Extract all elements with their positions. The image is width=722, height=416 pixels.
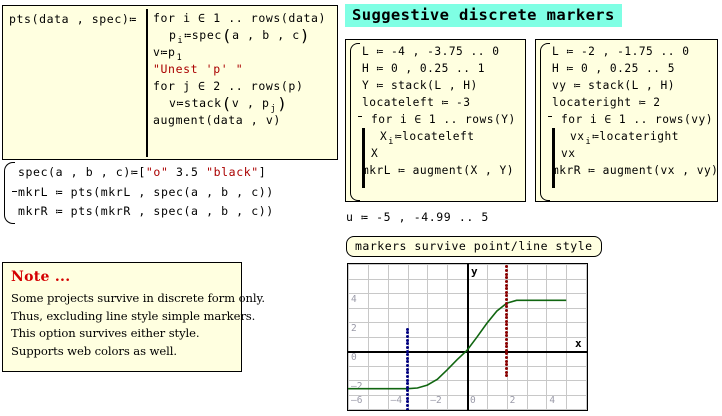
left-program-lines: L ≔ -4 , -3.75 .. 0 H ≔ 0 , 0.25 .. 1 Y …	[362, 43, 516, 179]
marker-dot	[505, 371, 508, 374]
chart-title: markers survive point/line style	[346, 236, 602, 257]
marker-dot	[406, 393, 409, 396]
note-line-1: Some projects survive in discrete form o…	[11, 290, 239, 308]
marker-dot	[406, 404, 409, 407]
marker-dot	[505, 360, 508, 363]
rp-line-3: vy ≔ stack(L , H)	[552, 77, 718, 94]
spec-line: spec(a , b , c)≔["o" 3.5 "black"]	[18, 163, 286, 183]
marker-dot	[505, 302, 508, 305]
marker-dot	[406, 350, 409, 353]
spec-color-string: "black"	[206, 165, 259, 179]
pts-line-5: for j ∈ 2 .. rows(p)	[153, 78, 337, 95]
marker-dot	[505, 284, 508, 287]
group-brace-nib	[12, 191, 17, 192]
marker-dot	[406, 335, 409, 338]
spec-marker-string: "o"	[146, 165, 169, 179]
pts-line-6: v≔stack(v , pj)	[153, 95, 337, 112]
lp-line-6: Xi≔locateleft	[362, 128, 516, 145]
pts-line-4-string: "Unest 'p' "	[153, 61, 337, 78]
lp-line-4: locateleft ≔ -3	[362, 94, 516, 111]
pts-definition-box: pts(data , spec)≔ for i ∈ 1 .. rows(data…	[2, 5, 338, 160]
mkrr-line: mkrR ≔ pts(mkrR , spec(a , b , c))	[18, 202, 286, 222]
marker-dot	[406, 379, 409, 382]
left-program-box: L ≔ -4 , -3.75 .. 0 H ≔ 0 , 0.25 .. 1 Y …	[345, 39, 526, 202]
note-line-4: Supports web colors as well.	[11, 343, 239, 361]
rp-line-8: mkrR ≔ augment(vx , vy)	[552, 162, 718, 179]
marker-dot	[505, 291, 508, 294]
marker-dot	[505, 273, 508, 276]
curve-layer	[348, 264, 586, 409]
note-line-2: Thus, excluding line style simple marker…	[11, 308, 239, 326]
marker-dot	[406, 375, 409, 378]
chart-plot-area: –6–4–2024420–2yx	[348, 264, 587, 410]
rp-line-6: vxi≔locateright	[552, 128, 718, 145]
marker-dot	[406, 364, 409, 367]
lp-line-1: L ≔ -4 , -3.75 .. 0	[362, 43, 516, 60]
marker-dot	[505, 313, 508, 316]
rp-line-2: H ≔ 0 , 0.25 .. 5	[552, 60, 718, 77]
right-program-brace	[540, 43, 550, 201]
spec-size-number: 3.5	[168, 165, 206, 179]
marker-dot	[406, 346, 409, 349]
left-program-brace	[350, 43, 360, 201]
pts-line-1: for i ∈ 1 .. rows(data)	[153, 10, 337, 27]
marker-dot	[406, 357, 409, 360]
note-box: Note ... Some projects survive in discre…	[2, 262, 242, 372]
mkrl-line: mkrL ≔ pts(mkrL , spec(a , b , c))	[18, 183, 286, 203]
data-curve	[348, 300, 566, 388]
lp-line-3: Y ≔ stack(L , H)	[362, 77, 516, 94]
marker-dot	[406, 328, 409, 331]
pts-line-2: pi≔spec(a , b , c)	[153, 27, 337, 44]
u-definition: u ≔ -5 , -4.99 .. 5	[346, 210, 489, 224]
pts-line-3: v≔p1	[153, 44, 337, 61]
rp-line-1: L ≔ -2 , -1.75 .. 0	[552, 43, 718, 60]
marker-dot	[406, 368, 409, 371]
marker-dot	[505, 320, 508, 323]
group-brace	[4, 162, 15, 224]
pts-line-7: augment(data , v)	[153, 112, 337, 129]
right-program-lines: L ≔ -2 , -1.75 .. 0 H ≔ 0 , 0.25 .. 5 vy…	[552, 43, 718, 179]
spec-definition-group: spec(a , b , c)≔["o" 3.5 "black"] mkrL ≔…	[4, 163, 286, 221]
marker-chart: –6–4–2024420–2yx	[347, 263, 588, 411]
lp-line-2: H ≔ 0 , 0.25 .. 1	[362, 60, 516, 77]
lp-line-8: mkrL ≔ augment(X , Y)	[362, 162, 516, 179]
right-program-box: L ≔ -2 , -1.75 .. 0 H ≔ 0 , 0.25 .. 5 vy…	[535, 39, 718, 202]
rp-line-4: locateright ≔ 2	[552, 94, 718, 111]
spec-line-suffix: ]	[259, 165, 267, 179]
lp-line-7: X	[362, 145, 516, 162]
marker-dot	[505, 349, 508, 352]
marker-dot	[406, 397, 409, 400]
note-body: Some projects survive in discrete form o…	[11, 290, 239, 360]
marker-dot	[406, 408, 409, 411]
marker-dot	[406, 386, 409, 389]
note-title: Note ...	[11, 269, 70, 285]
rp-line-7: vx	[552, 145, 718, 162]
spec-group-lines: spec(a , b , c)≔["o" 3.5 "black"] mkrL ≔…	[18, 163, 286, 222]
rp-line-5: for i ∈ 1 .. rows(vy)	[552, 111, 718, 128]
marker-dot	[505, 342, 508, 345]
program-divider-bar	[146, 9, 148, 157]
marker-dot	[505, 331, 508, 334]
marker-dot	[406, 339, 409, 342]
pts-lhs: pts(data , spec)≔	[9, 12, 145, 26]
pts-program-body: for i ∈ 1 .. rows(data) pi≔spec(a , b , …	[153, 10, 337, 129]
spec-line-prefix: spec(a , b , c)≔[	[18, 165, 146, 179]
page-title: Suggestive discrete markers	[345, 4, 622, 27]
note-line-3: This option survives either style.	[11, 325, 239, 343]
lp-line-5: for i ∈ 1 .. rows(Y)	[362, 111, 516, 128]
